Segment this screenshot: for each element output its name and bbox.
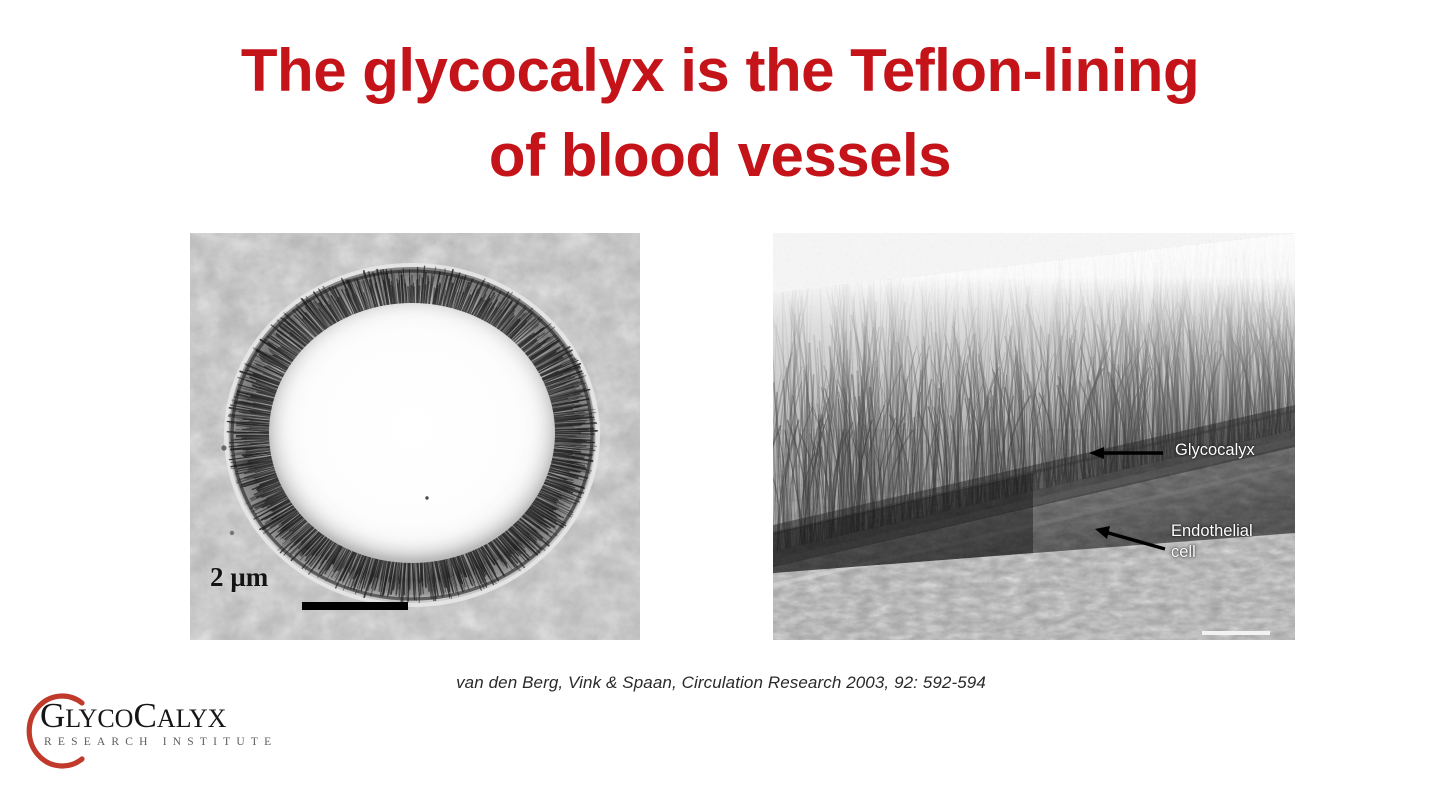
logo-letters-lyco: LYCO	[65, 704, 133, 733]
logo-letter-c: C	[133, 696, 156, 735]
slide-canvas: The glycocalyx is the Teflon-lining of b…	[0, 0, 1442, 788]
micrograph-capillary-cross-section: 2 µm	[190, 233, 640, 640]
logo-subtitle: RESEARCH INSTITUTE	[44, 736, 277, 748]
glycocalyx-closeup-image	[773, 233, 1295, 640]
page-title-line-1: The glycocalyx is the Teflon-lining	[160, 28, 1280, 113]
citation-text: van den Berg, Vink & Spaan, Circulation …	[0, 673, 1442, 693]
page-title: The glycocalyx is the Teflon-lining of b…	[160, 28, 1280, 198]
logo-wordmark: GLYCOCALYX	[40, 698, 226, 733]
logo-letter-g: G	[40, 696, 65, 735]
page-title-line-2: of blood vessels	[160, 113, 1280, 198]
logo-letters-alyx: ALYX	[157, 704, 227, 733]
micrograph-glycocalyx-closeup: Glycocalyx Endothelial cell 0.2 µm	[773, 233, 1295, 640]
logo[interactable]: GLYCOCALYX RESEARCH INSTITUTE	[8, 692, 298, 770]
capillary-cross-section-image	[190, 233, 640, 640]
